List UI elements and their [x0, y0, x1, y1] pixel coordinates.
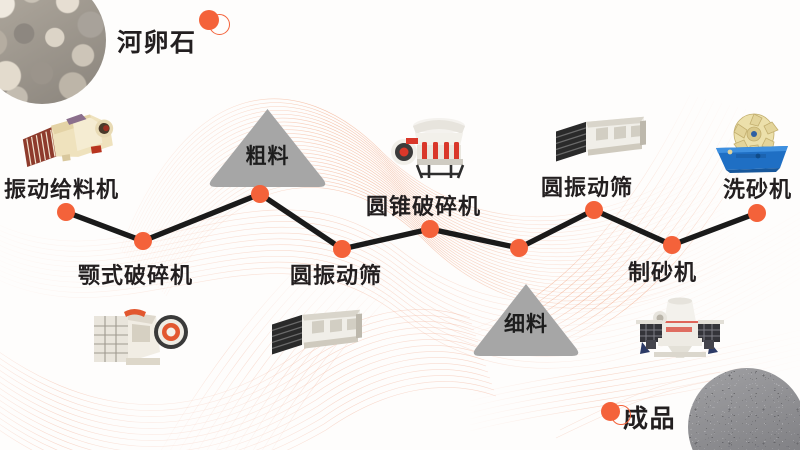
stage-label-circular-vibrating-screen-lower: 圆振动筛 — [290, 258, 382, 290]
flow-polyline — [0, 0, 800, 450]
stage-label-jaw-crusher: 颚式破碎机 — [78, 258, 193, 290]
flow-node-6[interactable] — [510, 239, 528, 257]
stage-label-cone-crusher: 圆锥破碎机 — [366, 189, 481, 221]
process-flow-diagram: 粗料 细料 河卵石 成品 — [0, 0, 800, 450]
stage-label-sand-making-machine: 制砂机 — [628, 255, 697, 287]
stage-label-sand-washing-machine: 洗砂机 — [723, 172, 792, 204]
flow-node-5[interactable] — [421, 220, 439, 238]
stage-label-circular-vibrating-screen-upper: 圆振动筛 — [541, 170, 633, 202]
flow-node-2[interactable] — [134, 232, 152, 250]
flow-node-3[interactable] — [251, 185, 269, 203]
flow-node-4[interactable] — [333, 240, 351, 258]
flow-node-9[interactable] — [748, 204, 766, 222]
flow-node-7[interactable] — [585, 201, 603, 219]
flow-node-8[interactable] — [663, 236, 681, 254]
flow-node-1[interactable] — [57, 203, 75, 221]
stage-label-vibrating-feeder: 振动给料机 — [4, 172, 119, 204]
